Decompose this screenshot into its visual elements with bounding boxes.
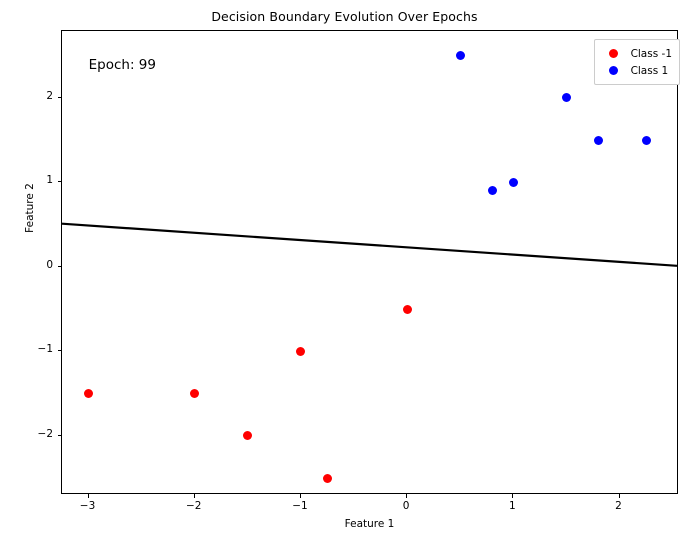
y-axis-tick-label: −1 — [17, 343, 53, 355]
x-axis-tick-label: −2 — [174, 500, 214, 512]
x-axis-tick-label: 0 — [386, 500, 426, 512]
legend-label-class-1: Class 1 — [627, 65, 669, 77]
y-axis-tick — [58, 181, 62, 182]
x-axis-tick-label: 1 — [492, 500, 532, 512]
x-axis-tick — [512, 494, 513, 498]
x-axis-tick-label: 2 — [599, 500, 639, 512]
plot-area — [61, 30, 678, 494]
data-point — [403, 305, 412, 314]
epoch-label: Epoch: 99 — [89, 57, 156, 73]
x-axis-tick — [300, 494, 301, 498]
data-point — [296, 347, 305, 356]
legend-item-class-neg1: Class -1 — [601, 45, 672, 62]
legend-item-class-1: Class 1 — [601, 62, 672, 79]
data-point — [488, 186, 497, 195]
chart-legend: Class -1 Class 1 — [594, 39, 680, 85]
x-axis-tick-label: −1 — [280, 500, 320, 512]
y-axis-tick — [58, 350, 62, 351]
x-axis-tick-label: −3 — [68, 500, 108, 512]
legend-marker-class-neg1-icon — [601, 49, 627, 58]
y-axis-tick — [58, 97, 62, 98]
chart-title: Decision Boundary Evolution Over Epochs — [0, 9, 689, 24]
y-axis-tick-label: 2 — [17, 90, 53, 102]
x-axis-tick — [88, 494, 89, 498]
y-axis-tick — [58, 435, 62, 436]
x-axis-tick — [406, 494, 407, 498]
data-point — [594, 136, 603, 145]
data-point — [509, 178, 518, 187]
x-axis-label: Feature 1 — [61, 518, 678, 530]
y-axis-tick-label: −2 — [17, 428, 53, 440]
data-point — [243, 431, 252, 440]
y-axis-tick — [58, 266, 62, 267]
data-point — [84, 389, 93, 398]
data-point — [323, 474, 332, 483]
y-axis-label: Feature 2 — [24, 148, 36, 268]
legend-label-class-neg1: Class -1 — [627, 48, 672, 60]
data-point — [642, 136, 651, 145]
data-point — [190, 389, 199, 398]
data-point — [562, 93, 571, 102]
data-points-layer — [62, 31, 677, 493]
x-axis-tick — [194, 494, 195, 498]
x-axis-tick — [619, 494, 620, 498]
chart-figure: Decision Boundary Evolution Over Epochs … — [0, 0, 689, 547]
data-point — [456, 51, 465, 60]
legend-marker-class-1-icon — [601, 66, 627, 75]
